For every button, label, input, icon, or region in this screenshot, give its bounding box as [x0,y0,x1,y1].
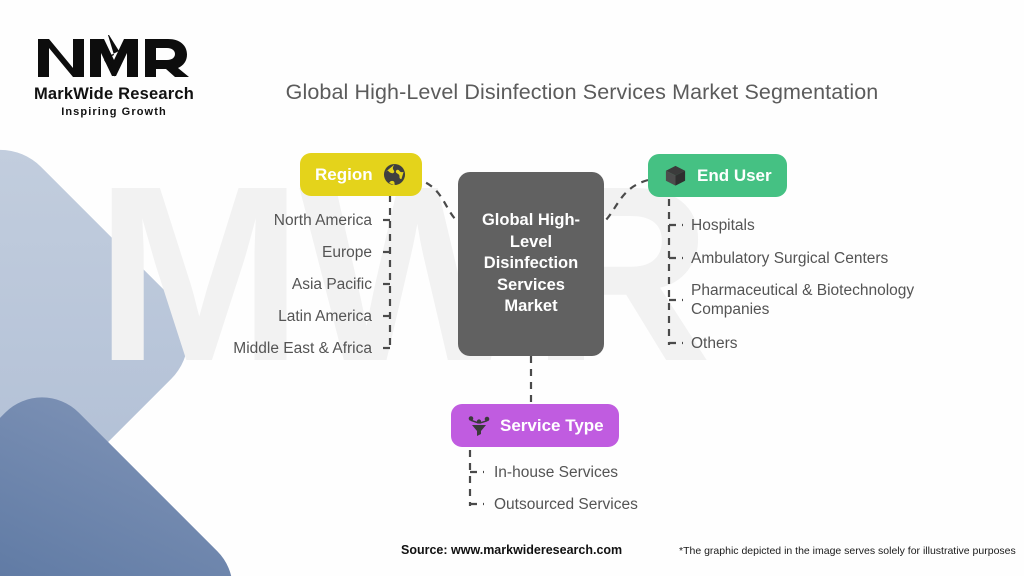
footer-source: Source: www.markwideresearch.com [401,543,622,557]
branch-badge-region-label: Region [315,165,373,185]
deco-rotated-square-light [0,126,212,550]
leaf-item-end-user-0: Hospitals [691,216,755,235]
branch-badge-service-type-label: Service Type [500,416,604,436]
connector-enduser-to-center [604,180,648,222]
center-node: Global High-Level Disinfection Services … [458,172,604,356]
leaf-item-service-type-0: In-house Services [494,463,618,482]
leaf-item-region-0: North America [112,211,372,230]
branch-badge-end-user[interactable]: End User [648,154,787,197]
branch-badge-end-user-label: End User [697,166,772,186]
footer-disclaimer: *The graphic depicted in the image serve… [679,545,1016,557]
leaf-item-region-3: Latin America [112,307,372,326]
cube-box-icon [663,163,688,188]
brand-tagline: Inspiring Growth [24,106,204,118]
leaf-item-region-1: Europe [112,243,372,262]
leaf-item-end-user-1: Ambulatory Surgical Centers [691,249,888,268]
leaf-item-region-2: Asia Pacific [112,275,372,294]
leaf-item-region-4: Middle East & Africa [112,339,372,358]
funnel-icon [466,413,491,438]
leaf-item-service-type-1: Outsourced Services [494,495,638,514]
branch-badge-service-type[interactable]: Service Type [451,404,619,447]
page-title: Global High-Level Disinfection Services … [0,80,1024,105]
leaf-item-end-user-2: Pharmaceutical & Biotechnology Companies [691,281,953,319]
deco-rotated-square-dark [0,376,254,576]
globe-icon [382,162,407,187]
mwr-monogram-icon [34,28,194,84]
infographic-canvas: MWR MarkWide Research Inspiring Growth G… [0,0,1024,576]
branch-badge-region[interactable]: Region [300,153,422,196]
leaf-item-end-user-3: Others [691,334,738,353]
center-node-label: Global High-Level Disinfection Services … [470,210,592,318]
